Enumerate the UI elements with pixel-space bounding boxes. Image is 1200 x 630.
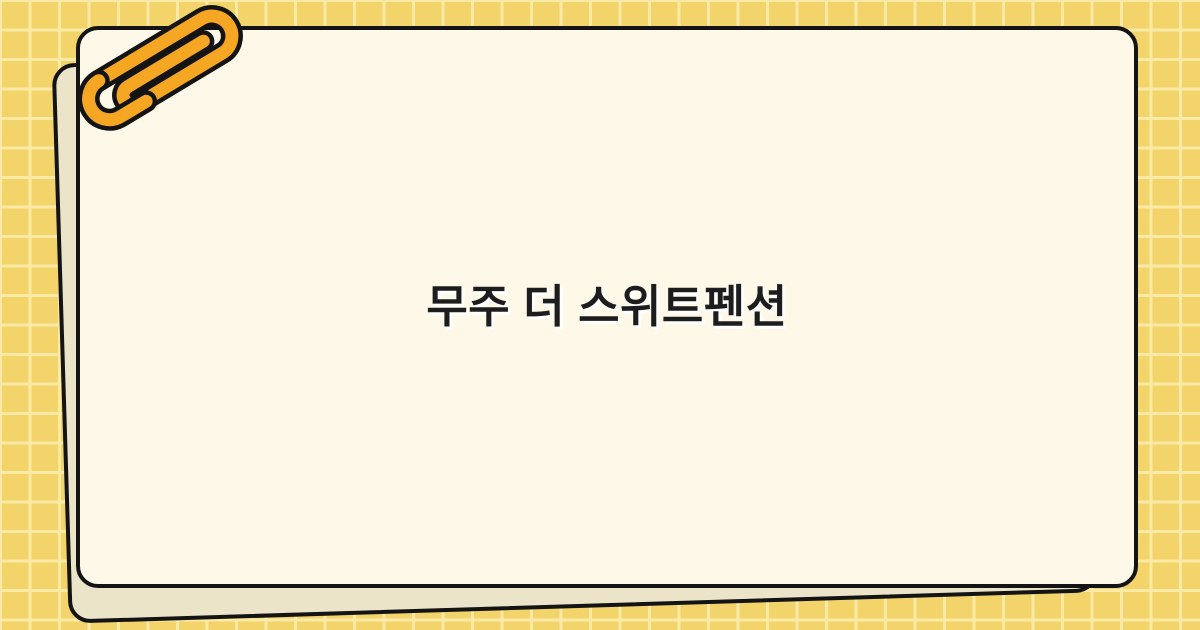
note-card-stack: 무주 더 스위트펜션 (0, 0, 1200, 630)
poster-canvas: 무주 더 스위트펜션 (0, 0, 1200, 630)
page-title: 무주 더 스위트펜션 (366, 279, 847, 335)
note-card-front: 무주 더 스위트펜션 (76, 26, 1138, 588)
